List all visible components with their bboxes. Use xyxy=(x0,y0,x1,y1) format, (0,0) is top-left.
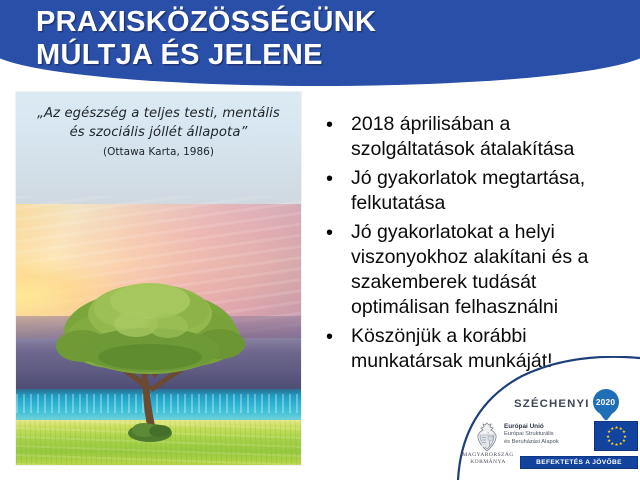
eu-star-icon: ★ xyxy=(615,443,618,446)
eu-title: Európai Unió xyxy=(504,423,559,431)
eu-star-icon: ★ xyxy=(607,439,610,442)
presentation-slide: PRAXISKÖZÖSSÉGÜNK MÚLTJA ÉS JELENE xyxy=(0,0,640,480)
hungary-government-caption: MAGYARORSZÁG KORMÁNYA xyxy=(460,452,516,466)
bullet-list: • 2018 áprilisában a szolgáltatások átal… xyxy=(320,112,638,378)
eu-star-icon: ★ xyxy=(619,442,622,445)
szechenyi-wordmark: SZÉCHENYI xyxy=(514,398,590,410)
quote-line-1: „Az egészség a teljes testi, mentális xyxy=(24,104,293,123)
eu-star-icon: ★ xyxy=(606,435,609,438)
eu-star-icon: ★ xyxy=(622,430,625,433)
eu-flag-icon: ★★★★★★★★★★★★ xyxy=(594,421,638,451)
pin-year-label: 2020 xyxy=(593,397,619,407)
eu-subtitle-line-1: Európai Strukturális xyxy=(504,431,559,439)
hungary-caption-line-1: MAGYARORSZÁG xyxy=(460,452,516,459)
title-line-2: MÚLTJA ÉS JELENE xyxy=(36,39,596,72)
quote-line-2: és szociális jóllét állapota” xyxy=(24,123,293,142)
list-item: • Jó gyakorlatok megtartása, felkutatása xyxy=(320,166,638,216)
eu-star-icon: ★ xyxy=(610,427,613,430)
eu-subtitle-line-2: és Beruházási Alapok xyxy=(504,439,559,447)
map-pin-icon: 2020 xyxy=(593,389,619,419)
page-title: PRAXISKÖZÖSSÉGÜNK MÚLTJA ÉS JELENE xyxy=(36,6,596,72)
invest-in-future-banner: BEFEKTETÉS A JÖVŐBE xyxy=(520,456,638,469)
bullet-text: Jó gyakorlatok megtartása, felkutatása xyxy=(351,166,638,216)
szechenyi-2020-logo: SZÉCHENYI 2020 xyxy=(514,389,619,419)
bullet-marker-icon: • xyxy=(320,220,351,246)
hungary-caption-line-2: KORMÁNYA xyxy=(460,459,516,466)
eu-funding-block: Európai Unió Európai Strukturális és Ber… xyxy=(476,422,559,452)
quote-overlay: „Az egészség a teljes testi, mentális és… xyxy=(16,92,301,161)
title-line-1: PRAXISKÖZÖSSÉGÜNK xyxy=(36,6,596,39)
invest-banner-text: BEFEKTETÉS A JÖVŐBE xyxy=(536,459,622,466)
bullet-marker-icon: • xyxy=(320,324,351,350)
eu-star-icon: ★ xyxy=(615,426,618,429)
funding-logo-panel: SZÉCHENYI 2020 Európai Unió Európai Stru… xyxy=(452,356,640,480)
eu-stars: ★★★★★★★★★★★★ xyxy=(595,422,637,450)
list-item: • Jó gyakorlatokat a helyi viszonyokhoz … xyxy=(320,220,638,320)
hungary-coat-of-arms-icon xyxy=(476,422,498,452)
bullet-marker-icon: • xyxy=(320,112,351,138)
quote-source: (Ottawa Karta, 1986) xyxy=(24,144,293,161)
bullet-marker-icon: • xyxy=(320,166,351,192)
bullet-text: Jó gyakorlatokat a helyi viszonyokhoz al… xyxy=(351,220,638,320)
tree-sunset-photo: „Az egészség a teljes testi, mentális és… xyxy=(16,92,301,465)
eu-text-group: Európai Unió Európai Strukturális és Ber… xyxy=(504,422,559,446)
list-item: • 2018 áprilisában a szolgáltatások átal… xyxy=(320,112,638,162)
bullet-text: 2018 áprilisában a szolgáltatások átalak… xyxy=(351,112,638,162)
